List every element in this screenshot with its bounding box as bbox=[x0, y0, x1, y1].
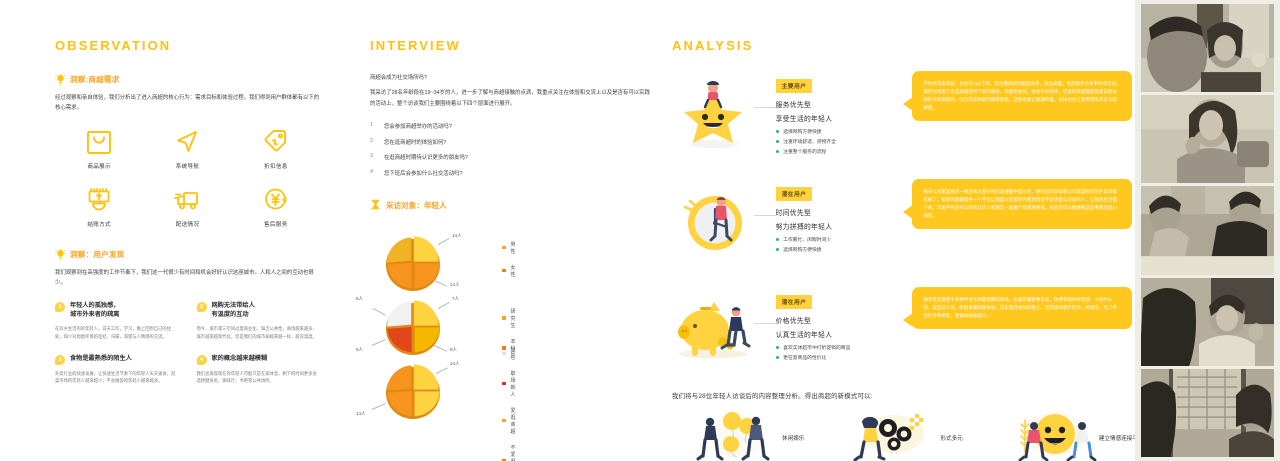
bullet-dot-icon bbox=[776, 356, 780, 360]
pie-chart-gender: 14人 14人 男性 女性 bbox=[382, 231, 444, 293]
list-item: 注重整个服务的流程 bbox=[776, 148, 899, 155]
list-item: 喜欢实体超市中打折促销的商品 bbox=[776, 344, 899, 351]
lightbulb-icon bbox=[55, 248, 66, 260]
legend-swatch bbox=[502, 419, 506, 423]
finding-body: 而今，城市第三空间过度商业化、缺乏公共性，商场越来越多，城市越来越现代化，但是我… bbox=[197, 325, 321, 340]
finding-item: 3 食物是最熟悉的陌生人 外卖行业的快速发展，让快速生活节奏下的年轻人天天速食，… bbox=[55, 355, 179, 385]
observation-insight2-header: 洞察：用户发现 bbox=[55, 248, 320, 260]
question-number: 4 bbox=[370, 169, 376, 177]
legend-swatch bbox=[502, 269, 506, 273]
question-number: 3 bbox=[370, 153, 376, 161]
interview-photo-5 bbox=[1141, 369, 1274, 457]
legend-label: 不爱逛商超 bbox=[511, 444, 516, 461]
observation-column: OBSERVATION 洞察:商超 bbox=[55, 38, 320, 385]
interview-paragraph: 我采访了28名年龄段在19~34岁的人，进一步了解与商超接触的点滴，我重点关注在… bbox=[370, 88, 650, 109]
conclusion-item-diverse: 形式多元 bbox=[848, 406, 962, 461]
observation-insight2-label: 洞察：用户发现 bbox=[70, 248, 125, 260]
shopping-bag-icon bbox=[86, 128, 112, 155]
legend-swatch bbox=[502, 382, 506, 386]
pie-graphic: 5人 7人 9人 9人 bbox=[382, 295, 444, 357]
price-tag-icon bbox=[263, 128, 289, 155]
interview-target-label: 采访对象：年轻人 bbox=[386, 200, 447, 211]
persona-quote-bubble: 每天公司家里两点一线还有大部分时间是通勤中度过的，便利店的早饭和公司家里附近的外… bbox=[912, 179, 1132, 229]
legend-label: 爱逛商超 bbox=[511, 407, 516, 435]
list-item: 工作繁忙、闲暇时间少 bbox=[776, 236, 899, 243]
pie-graphic: 14人 14人 bbox=[382, 231, 444, 293]
analysis-column: ANALYSIS 主要用户 服务优 bbox=[672, 38, 1132, 461]
persona-subtitle: 认真生活的年轻人 bbox=[776, 329, 899, 339]
persona-quote-bubble: 平时经常去商超，也会在App下单，我注重商超的配送效率，商品质量，售后服务还有平… bbox=[912, 71, 1132, 121]
list-item: 4 您下班后会参加什么社交活动吗? bbox=[370, 169, 650, 177]
persona-point: 喜欢实体超市中打折促销的商品 bbox=[783, 344, 850, 351]
persona-text-block: 主要用户 服务优先型 享受生活的年轻人 选择网购方便快捷 注重环境舒适、货物齐全… bbox=[776, 71, 899, 158]
delivery-truck-icon bbox=[174, 186, 200, 213]
legend-swatch bbox=[502, 316, 506, 320]
interview-charts: 14人 14人 男性 女性 bbox=[370, 227, 650, 417]
legend-item: 职场新人 bbox=[502, 370, 516, 398]
conclusion-item-leisure: 休闲娱乐 bbox=[690, 406, 804, 461]
connector-line bbox=[754, 215, 776, 216]
finding-title: 家的概念越来越模糊 bbox=[212, 355, 268, 364]
persona-points: 工作繁忙、闲暇时间少 选择网购方便快捷 bbox=[776, 236, 899, 253]
interview-photo-4 bbox=[1141, 278, 1274, 366]
need-item-shopping-bag: 商品展示 bbox=[55, 128, 143, 170]
interview-section-title: INTERVIEW bbox=[370, 38, 650, 53]
question-text: 您下班后会参加什么社交活动吗? bbox=[384, 169, 462, 177]
observation-insight1-label: 洞察:商超需求 bbox=[70, 73, 120, 85]
balloons-people-illustration bbox=[690, 406, 776, 461]
persona-type: 时间优先型 bbox=[776, 207, 899, 217]
persona-point: 选择网购方便快捷 bbox=[783, 128, 821, 135]
need-item-payment: 结账方式 bbox=[55, 186, 143, 228]
need-label: 配送情况 bbox=[176, 220, 200, 228]
question-text: 您在逛商超时的体验如何? bbox=[384, 138, 446, 146]
bullet-dot-icon bbox=[776, 140, 780, 144]
question-number: 2 bbox=[370, 138, 376, 146]
persona-card-primary: 主要用户 服务优先型 享受生活的年轻人 选择网购方便快捷 注重环境舒适、货物齐全… bbox=[672, 71, 1132, 161]
interview-question-headline: 商超会成为社交场所吗? bbox=[370, 73, 650, 81]
persona-point: 选择网购方便快捷 bbox=[783, 246, 821, 253]
finding-title: 食物是最熟悉的陌生人 bbox=[70, 355, 132, 364]
persona-point: 注重整个服务的流程 bbox=[783, 148, 826, 155]
gears-people-illustration bbox=[848, 406, 934, 461]
conclusion-item-emotional: 建立情感连接平台 bbox=[1007, 406, 1144, 461]
pie-value-label: 14人 bbox=[452, 233, 462, 239]
question-text: 在逛商超时期待认识更多的朋友吗? bbox=[384, 153, 468, 161]
finding-body: 在异乡生活的的年轻人，白天工作，学习，晚上回到自己的住处，缺少对周围环境的连结、… bbox=[55, 325, 179, 340]
need-item-delivery: 配送情况 bbox=[143, 186, 231, 228]
persona-card-price: 潜在用户 价格优先型 认真生活的年轻人 喜欢实体超市中打折促销的商品 更在意商品… bbox=[672, 287, 1132, 377]
legend-swatch bbox=[502, 246, 506, 250]
finding-body: 我们也发现现在的年轻人可能只是在家休息，剩下的时间更多会选择健身房，咖啡厅，书吧… bbox=[197, 370, 321, 385]
bullet-dot-icon bbox=[776, 130, 780, 134]
list-item: 选择网购方便快捷 bbox=[776, 246, 899, 253]
observation-insight2-paragraph: 我们观察到在高强度的工作节奏下，我们这一代很少有时间和机会好好认识这座城市。人和… bbox=[55, 268, 320, 289]
list-item: 选择网购方便快捷 bbox=[776, 128, 899, 135]
question-text: 您会参加商超举办的活动吗? bbox=[384, 122, 452, 130]
finding-badge: 1 bbox=[55, 302, 65, 312]
legend-gender: 男性 女性 bbox=[502, 241, 516, 287]
legend-item: 爱逛商超 bbox=[502, 407, 516, 435]
list-item: 注重环境舒适、货物齐全 bbox=[776, 138, 899, 145]
finding-body: 外卖行业的快速发展，让快速生活节奏下的年轻人天天速食，逛菜市场的年轻人越来越少，… bbox=[55, 370, 179, 385]
finding-item: 2 网购无法带给人 有温度的互动 而今，城市第三空间过度商业化、缺乏公共性，商场… bbox=[197, 302, 321, 340]
conclusion-row: 休闲娱乐 bbox=[672, 406, 1132, 461]
pie-value-label: 14人 bbox=[450, 282, 460, 288]
bullet-dot-icon bbox=[776, 248, 780, 252]
poster-canvas: OBSERVATION 洞察:商超 bbox=[0, 0, 1280, 461]
finding-badge: 4 bbox=[197, 355, 207, 365]
list-item: 更在意商品的性价比 bbox=[776, 354, 899, 361]
need-item-navigation: 系统导航 bbox=[143, 128, 231, 170]
persona-type: 服务优先型 bbox=[776, 99, 899, 109]
need-label: 商品展示 bbox=[87, 162, 111, 170]
pie-value-label: 5人 bbox=[356, 296, 363, 302]
pie-value-label: 7人 bbox=[452, 296, 459, 302]
need-label: 折扣信息 bbox=[264, 162, 288, 170]
photo-strip bbox=[1135, 0, 1280, 461]
legend-item: 不爱逛商超 bbox=[502, 444, 516, 461]
findings-grid: 1 年轻人的孤独感， 城市外来者的疏离 在异乡生活的的年轻人，白天工作，学习，晚… bbox=[55, 302, 320, 385]
persona-tag: 潜在用户 bbox=[776, 295, 813, 309]
bullet-dot-icon bbox=[776, 238, 780, 242]
legend-label: 研究生 bbox=[511, 308, 516, 329]
need-item-discount: 折扣信息 bbox=[232, 128, 320, 170]
pie-value-label: 14人 bbox=[450, 361, 460, 367]
pie-value-label: 9人 bbox=[450, 347, 457, 353]
observation-section-title: OBSERVATION bbox=[55, 38, 320, 53]
persona-text-block: 潜在用户 时间优先型 努力拼搏的年轻人 工作繁忙、闲暇时间少 选择网购方便快捷 bbox=[776, 179, 899, 256]
persona-subtitle: 享受生活的年轻人 bbox=[776, 113, 899, 123]
core-needs-grid: 商品展示 系统导航 折扣信息 结账方式 bbox=[55, 128, 320, 228]
persona-text-block: 潜在用户 价格优先型 认真生活的年轻人 喜欢实体超市中打折促销的商品 更在意商品… bbox=[776, 287, 899, 364]
question-number: 1 bbox=[370, 122, 376, 130]
legend-item: 女性 bbox=[502, 264, 516, 278]
persona-quote-bubble: 我享受卖盘放于各种平台买到最划算的商品，也喜欢薅各种羊毛，免费参加各种活动、沙龙… bbox=[912, 287, 1132, 329]
legend-swatch bbox=[502, 352, 506, 356]
analysis-section-title: ANALYSIS bbox=[672, 38, 1132, 53]
persona-point: 工作繁忙、闲暇时间少 bbox=[783, 236, 831, 243]
interview-photo-3 bbox=[1141, 186, 1274, 274]
interview-question-list: 1 您会参加商超举办的活动吗? 2 您在逛商超时的体验如何? 3 在逛商超时期待… bbox=[370, 122, 650, 177]
finding-badge: 3 bbox=[55, 355, 65, 365]
cash-register-icon bbox=[86, 186, 112, 213]
lightbulb-icon bbox=[55, 73, 66, 85]
persona-type: 价格优先型 bbox=[776, 315, 899, 325]
legend-label: 男性 bbox=[511, 241, 516, 255]
smiley-people-illustration bbox=[1007, 406, 1093, 461]
persona-point: 更在意商品的性价比 bbox=[783, 354, 826, 361]
need-label: 结账方式 bbox=[87, 220, 111, 228]
persona-points: 喜欢实体超市中打折促销的商品 更在意商品的性价比 bbox=[776, 344, 899, 361]
legend-group: 其它 职场新人 爱逛商超 不爱逛商超 bbox=[502, 347, 516, 461]
finding-item: 1 年轻人的孤独感， 城市外来者的疏离 在异乡生活的的年轻人，白天工作，学习，晚… bbox=[55, 302, 179, 340]
analysis-conclusion-text: 我们将与28位年轻人访谈后的内容整理分析。得出商超的新模式可以: bbox=[672, 391, 1132, 400]
legend-label: 女性 bbox=[511, 264, 516, 278]
persona-point: 注重环境舒适、货物齐全 bbox=[783, 138, 836, 145]
connector-line bbox=[754, 107, 776, 108]
bullet-dot-icon bbox=[776, 346, 780, 350]
pie-value-label: 9人 bbox=[356, 347, 363, 353]
persona-tag: 主要用户 bbox=[776, 79, 813, 93]
persona-card-time: 潜在用户 时间优先型 努力拼搏的年轻人 工作繁忙、闲暇时间少 选择网购方便快捷 … bbox=[672, 179, 1132, 269]
legend-item: 研究生 bbox=[502, 308, 516, 329]
navigation-arrow-icon bbox=[174, 128, 200, 155]
interview-column: INTERVIEW 商超会成为社交场所吗? 我采访了28名年龄段在19~34岁的… bbox=[370, 38, 650, 417]
piggy-bank-character-illustration bbox=[672, 287, 754, 371]
finding-title: 网购无法带给人 有温度的互动 bbox=[212, 302, 255, 320]
refund-yen-icon bbox=[263, 186, 289, 213]
persona-points: 选择网购方便快捷 注重环境舒适、货物齐全 注重整个服务的流程 bbox=[776, 128, 899, 155]
pie-graphic: 14人 14人 bbox=[382, 359, 444, 421]
alarm-clock-character-illustration bbox=[672, 179, 754, 263]
finding-item: 4 家的概念越来越模糊 我们也发现现在的年轻人可能只是在家休息，剩下的时间更多会… bbox=[197, 355, 321, 385]
finding-title: 年轻人的孤独感， 城市外来者的疏离 bbox=[70, 302, 120, 320]
bullet-dot-icon bbox=[776, 150, 780, 154]
need-label: 售后服务 bbox=[264, 220, 288, 228]
legend-label: 其它 bbox=[511, 347, 516, 361]
interview-target-header: 采访对象：年轻人 bbox=[370, 197, 650, 215]
legend-label: 职场新人 bbox=[511, 370, 516, 398]
connector-line bbox=[754, 323, 776, 324]
hourglass-icon bbox=[370, 197, 381, 215]
pie-chart-education: 5人 7人 9人 9人 研究生 本科生 bbox=[382, 295, 444, 357]
persona-subtitle: 努力拼搏的年轻人 bbox=[776, 221, 899, 231]
finding-badge: 2 bbox=[197, 302, 207, 312]
interview-photo-1 bbox=[1141, 4, 1274, 92]
observation-insight1-header: 洞察:商超需求 bbox=[55, 73, 320, 85]
need-item-after-sales: 售后服务 bbox=[232, 186, 320, 228]
legend-item: 男性 bbox=[502, 241, 516, 255]
interview-photo-2 bbox=[1141, 95, 1274, 183]
conclusion-label: 休闲娱乐 bbox=[782, 434, 804, 442]
list-item: 1 您会参加商超举办的活动吗? bbox=[370, 122, 650, 130]
pie-chart-group: 14人 14人 其它 职场新人 爱逛商超 bbox=[382, 359, 444, 421]
need-label: 系统导航 bbox=[176, 162, 200, 170]
observation-insight1-paragraph: 经过观察和亲自体验，我们分析出了进入商超的核心行为：需求目标和体验过程。我们得到… bbox=[55, 93, 320, 114]
mascot-star-character-illustration bbox=[672, 71, 754, 155]
list-item: 2 您在逛商超时的体验如何? bbox=[370, 138, 650, 146]
legend-item: 其它 bbox=[502, 347, 516, 361]
conclusion-label: 形式多元 bbox=[940, 434, 962, 442]
list-item: 3 在逛商超时期待认识更多的朋友吗? bbox=[370, 153, 650, 161]
pie-value-label: 14人 bbox=[356, 411, 366, 417]
persona-tag: 潜在用户 bbox=[776, 187, 813, 201]
